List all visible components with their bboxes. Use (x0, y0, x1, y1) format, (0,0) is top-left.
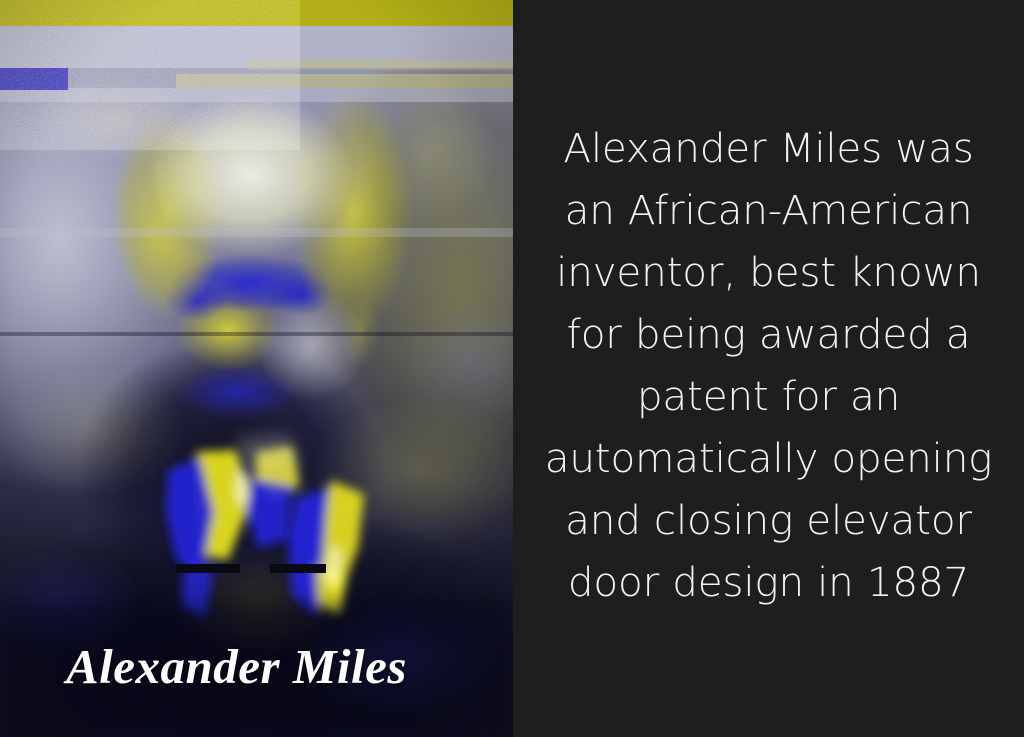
fact-text: Alexander Miles was an African-American … (533, 117, 1005, 613)
fact-card: Alexander Miles Alexander Miles was an A… (0, 0, 1024, 737)
fact-text-panel: Alexander Miles was an African-American … (513, 0, 1024, 737)
portrait-photo-panel: Alexander Miles (0, 0, 513, 737)
chroma-noise-overlay (0, 0, 300, 150)
portrait-caption: Alexander Miles (66, 642, 407, 691)
